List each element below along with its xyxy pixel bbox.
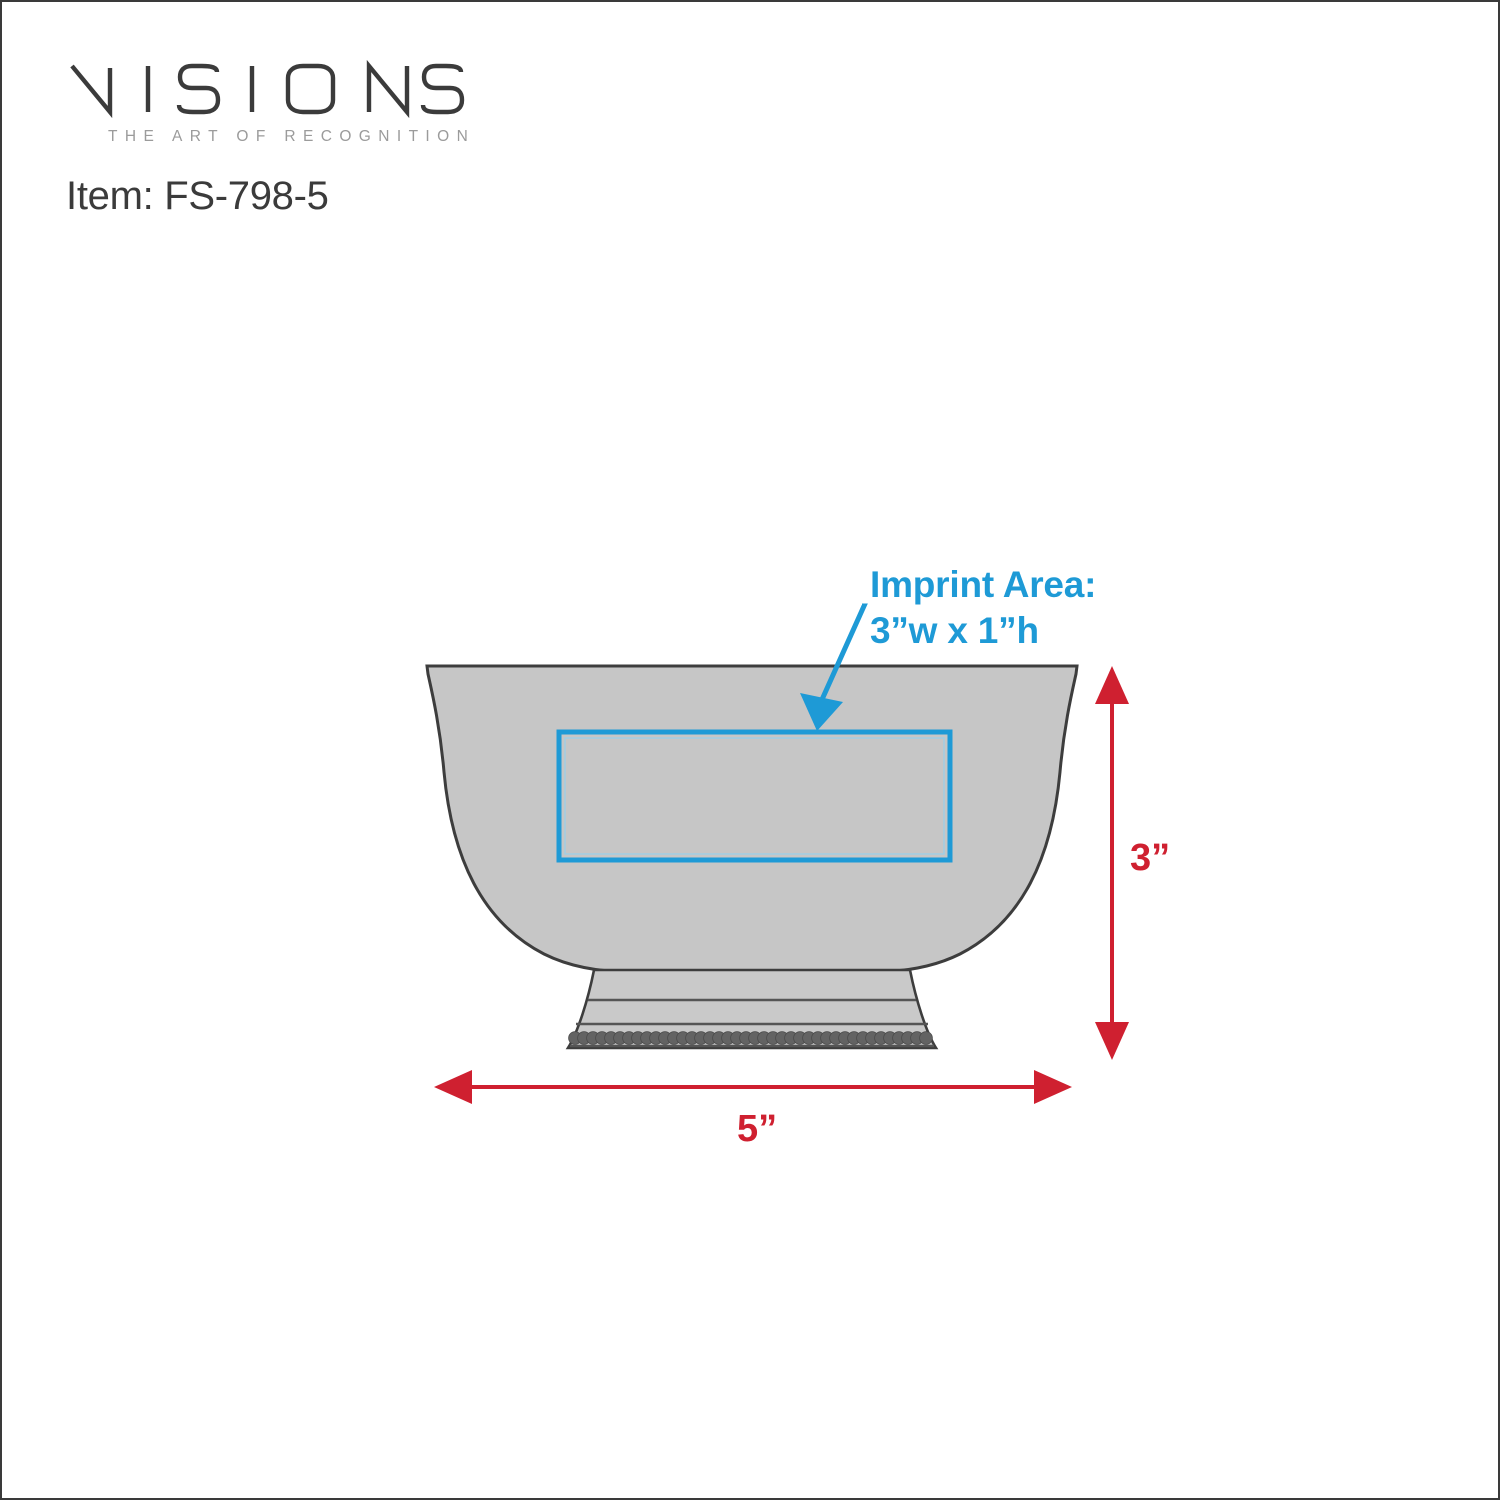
dim-height-arrowhead-bottom bbox=[1095, 1022, 1129, 1060]
bowl-body bbox=[427, 666, 1077, 972]
imprint-area-size: 3”w x 1”h bbox=[870, 610, 1039, 652]
dim-width-arrowhead-right bbox=[1034, 1070, 1072, 1104]
product-illustration bbox=[2, 2, 1500, 1500]
foot-bead-row bbox=[569, 1032, 933, 1045]
product-spec-sheet: THE ART OF RECOGNITION Item: FS-798-5 bbox=[0, 0, 1500, 1500]
dim-width-arrowhead-left bbox=[434, 1070, 472, 1104]
dim-height-arrowhead-top bbox=[1095, 666, 1129, 704]
dimension-width-label: 5” bbox=[737, 1108, 777, 1151]
dimension-height-label: 3” bbox=[1130, 837, 1170, 880]
imprint-area-title: Imprint Area: bbox=[870, 564, 1096, 606]
